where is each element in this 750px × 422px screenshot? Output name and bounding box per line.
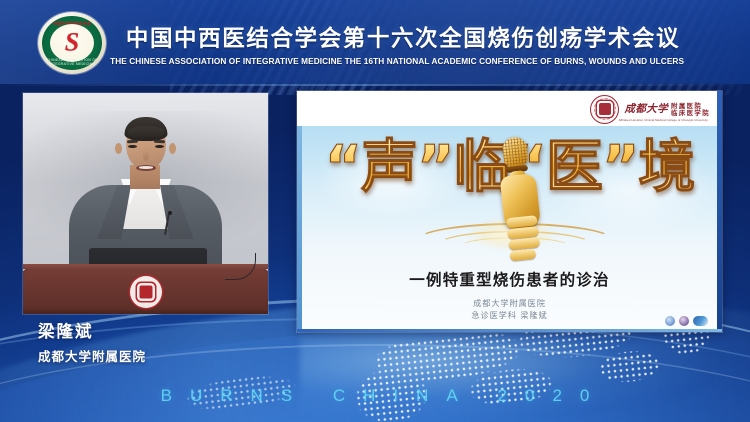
slide-bottom-accent-bar <box>297 329 722 332</box>
conference-title-chinese: 中国中西医结合学会第十六次全国烧伤创疡学术会议 <box>0 21 750 53</box>
partner-logo-1-icon <box>665 316 675 326</box>
slide-partner-logos <box>665 316 708 326</box>
slide-byline-organization: 成都大学附属医院 <box>297 297 722 309</box>
hospital-logo: 成都大学 附属医院 临床医学院 Affiliated Hospital, Cli… <box>590 94 710 124</box>
partner-logo-3-icon <box>693 316 708 326</box>
hospital-emblem-icon <box>590 95 619 124</box>
speaker-hair <box>124 117 167 141</box>
speaker-organization: 成都大学附属医院 <box>38 346 146 365</box>
event-banner-text: BURNS CHINA 2020 <box>0 386 750 406</box>
conference-broadcast-screen: 中国中西医结合学会 S CHINESE ASSOCIATION OF INTEG… <box>0 0 750 422</box>
conference-title-english: THE CHINESE ASSOCIATION OF INTEGRATIVE M… <box>15 56 735 66</box>
slide-subtitle: 一例特重型烧伤患者的诊治 <box>297 268 722 290</box>
header-divider <box>0 84 750 86</box>
speaker-nose <box>143 150 149 161</box>
hospital-name-main: 成都大学 <box>624 101 668 115</box>
hospital-name-english: Affiliated Hospital, Clinical Medical Co… <box>619 118 708 122</box>
partner-logo-2-icon <box>679 316 689 326</box>
slide-title-artwork: “声”临“医”境 <box>297 131 722 249</box>
speaker-mouth <box>136 165 156 171</box>
lapel-microphone-head-icon <box>168 211 172 215</box>
hospital-name-line2: 临床医学院 <box>671 110 710 117</box>
speaker-nameplate: 梁隆斌 成都大学附属医院 <box>0 318 300 376</box>
speaker-ear-left <box>115 143 122 154</box>
slide-byline-department: 急诊医学科 梁隆斌 <box>297 309 722 321</box>
dotted-world-map <box>330 328 750 422</box>
hand-holding-microphone-icon <box>500 173 542 232</box>
speaker-ear-right <box>169 143 176 154</box>
presentation-slide[interactable]: 成都大学 附属医院 临床医学院 Affiliated Hospital, Cli… <box>297 91 722 332</box>
speaker-video-panel[interactable] <box>23 93 268 314</box>
speaker-name: 梁隆斌 <box>38 318 94 342</box>
hospital-name-line1: 附属医院 <box>671 103 710 110</box>
podium-emblem-icon <box>130 276 162 308</box>
